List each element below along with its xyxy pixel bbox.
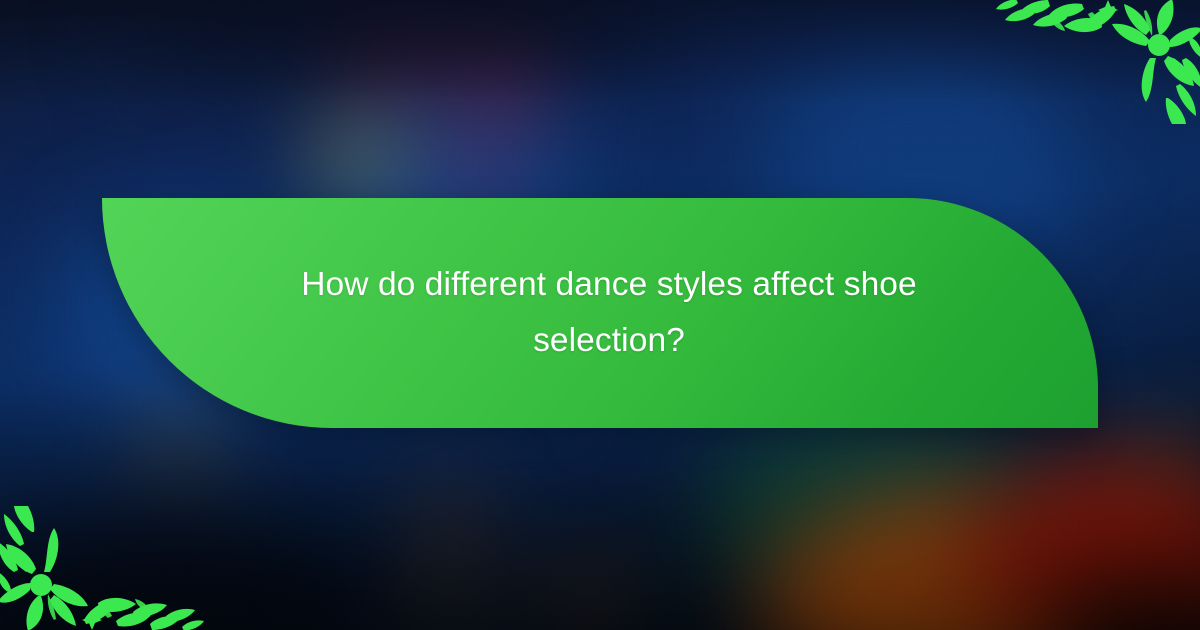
background-blob-dark-bottom-left [0, 520, 380, 630]
background-blob-orange-blob-b [560, 575, 616, 617]
background-blob-amber-left-edge [150, 425, 210, 471]
social-card-canvas: How do different dance styles affect sho… [0, 0, 1200, 630]
headline-card: How do different dance styles affect sho… [102, 198, 1098, 428]
page-title: How do different dance styles affect sho… [239, 257, 979, 369]
background-blob-navy-top-band [120, 0, 680, 80]
background-blob-orange-streak [430, 470, 470, 630]
